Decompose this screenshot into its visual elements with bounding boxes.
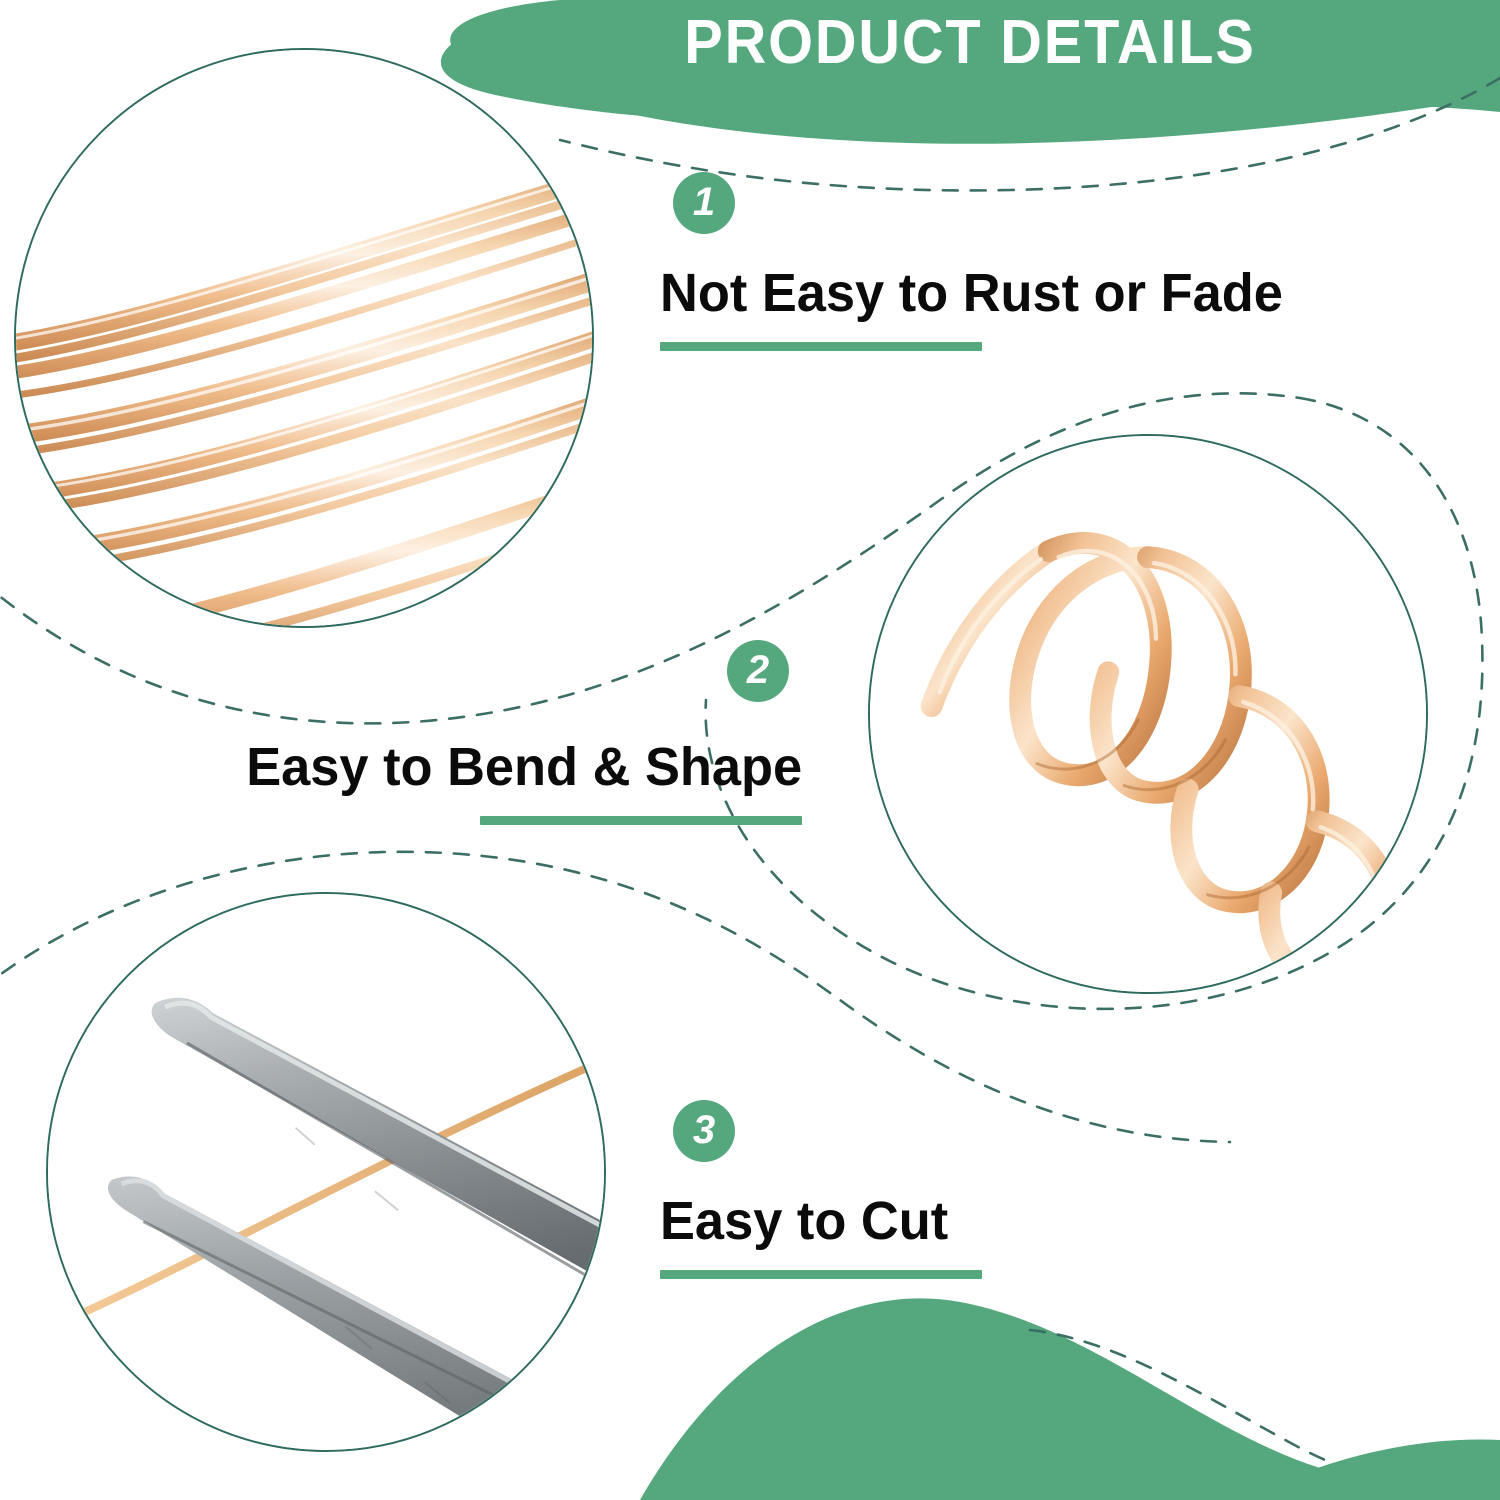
page-title: PRODUCT DETAILS xyxy=(663,4,1277,80)
feature-title-3: Easy to Cut xyxy=(660,1190,972,1252)
scissors-illustration xyxy=(48,894,604,1450)
feature-item-2: 2 Easy to Bend & Shape xyxy=(250,640,802,825)
feature-item-3: 3 Easy to Cut xyxy=(660,1100,982,1279)
copper-wire-strands-photo xyxy=(14,48,594,628)
feature-item-1: 1 Not Easy to Rust or Fade xyxy=(660,172,1302,351)
feature-underline-1 xyxy=(660,342,982,351)
wire-coil-illustration xyxy=(870,436,1426,992)
feature-title-1: Not Easy to Rust or Fade xyxy=(660,262,1283,324)
scissors-cutting-wire-photo xyxy=(46,892,606,1452)
copper-wire-coil-photo xyxy=(868,434,1428,994)
feature-number-badge-3: 3 xyxy=(673,1100,735,1162)
feature-underline-3 xyxy=(660,1270,982,1279)
wire-strands-illustration xyxy=(16,50,592,626)
feature-title-2: Easy to Bend & Shape xyxy=(246,736,802,798)
feature-underline-2 xyxy=(480,816,802,825)
feature-number-badge-2: 2 xyxy=(727,640,789,702)
product-details-infographic: PRODUCT DETAILS xyxy=(0,0,1500,1500)
feature-number-badge-1: 1 xyxy=(673,172,735,234)
